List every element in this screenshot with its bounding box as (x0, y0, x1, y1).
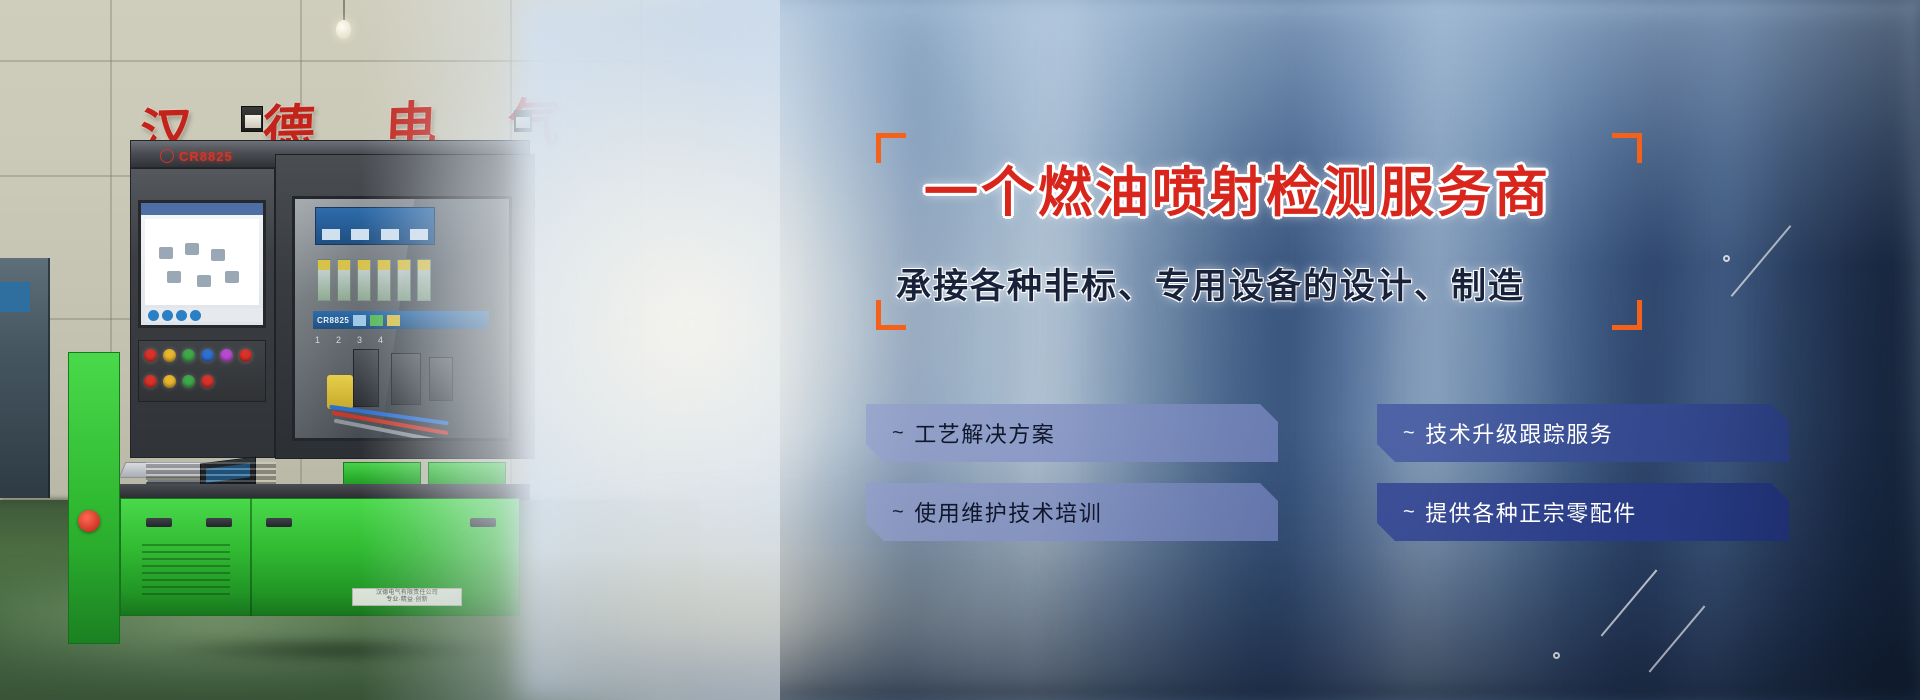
hmi-icon (185, 243, 199, 255)
hmi-icon (167, 271, 181, 283)
brand-logo-icon (160, 149, 174, 163)
corner-bracket-icon-top-left (876, 133, 906, 163)
machine-model-label: CR8825 (179, 149, 233, 164)
machine-model-badge: CR8825 (160, 148, 280, 164)
hero-banner: 汉 德 电 气 CR8825 (0, 0, 1920, 700)
machine-side-panel (68, 352, 120, 644)
button-row-bottom (144, 375, 214, 388)
push-button-red (201, 375, 214, 388)
scale-tick: 1 (315, 335, 320, 351)
hmi-icon (211, 249, 225, 261)
cabinet-handle (206, 518, 232, 527)
hmi-toolbar (145, 308, 263, 322)
push-button-red (144, 375, 157, 388)
push-button-yellow (163, 375, 176, 388)
banner-headline: 一个燃油喷射检测服务商 (924, 148, 1551, 227)
tilde-icon: ~ (892, 501, 905, 524)
indicator-lamp-purple (220, 349, 233, 362)
feature-chip-label: 工艺解决方案 (914, 417, 1055, 449)
emergency-stop-button-icon (78, 510, 100, 532)
circle-outline-icon (1553, 652, 1560, 659)
indicator-lamp-blue (201, 349, 214, 362)
machine-button-panel (138, 340, 266, 402)
feature-chip-label: 提供各种正宗零配件 (1425, 496, 1637, 528)
hmi-toolbar-button (148, 310, 159, 321)
cabinet-handle (266, 518, 292, 527)
indicator-lamp-green (182, 349, 195, 362)
hmi-content (145, 219, 259, 305)
feature-chip-process-solutions[interactable]: ~ 工艺解决方案 (866, 404, 1278, 462)
hmi-icon (197, 275, 211, 287)
hmi-titlebar (141, 203, 263, 215)
cabinet-vent-grille (142, 544, 230, 598)
button-row-top (144, 349, 252, 362)
indicator-lamp-red (239, 349, 252, 362)
corner-bracket-icon-top-right (1612, 133, 1642, 163)
measuring-vial (317, 259, 331, 301)
background-cabinet-panel (0, 282, 30, 312)
tilde-icon: ~ (892, 422, 905, 445)
push-button-green (182, 375, 195, 388)
feature-chip-group: ~ 工艺解决方案 ~ 技术升级跟踪服务 ~ 使用维护技术培训 ~ 提供各种正宗零… (866, 404, 1789, 541)
feature-chip-genuine-parts[interactable]: ~ 提供各种正宗零配件 (1377, 483, 1789, 541)
cabinet-door-seam (250, 498, 252, 616)
hmi-toolbar-button (190, 310, 201, 321)
wall-lamp-icon (241, 106, 263, 132)
cabinet-handle (146, 518, 172, 527)
tilde-icon: ~ (1403, 422, 1416, 445)
hmi-icon (159, 247, 173, 259)
hmi-icon (225, 271, 239, 283)
feature-chip-tech-upgrade-service[interactable]: ~ 技术升级跟踪服务 (1377, 404, 1789, 462)
corner-bracket-icon-bottom-right (1612, 300, 1642, 330)
tilde-icon: ~ (1403, 501, 1416, 524)
hmi-toolbar-button (162, 310, 173, 321)
feature-chip-label: 使用维护技术培训 (914, 496, 1102, 528)
indicator-lamp-yellow (163, 349, 176, 362)
feature-chip-label: 技术升级跟踪服务 (1425, 417, 1613, 449)
machine-hmi-screen (138, 200, 266, 328)
hmi-toolbar-button (176, 310, 187, 321)
banner-subheadline: 承接各种非标、专用设备的设计、制造 (896, 258, 1525, 309)
circle-outline-icon (1723, 255, 1730, 262)
indicator-lamp-red (144, 349, 157, 362)
feature-chip-maintenance-training[interactable]: ~ 使用维护技术培训 (866, 483, 1278, 541)
